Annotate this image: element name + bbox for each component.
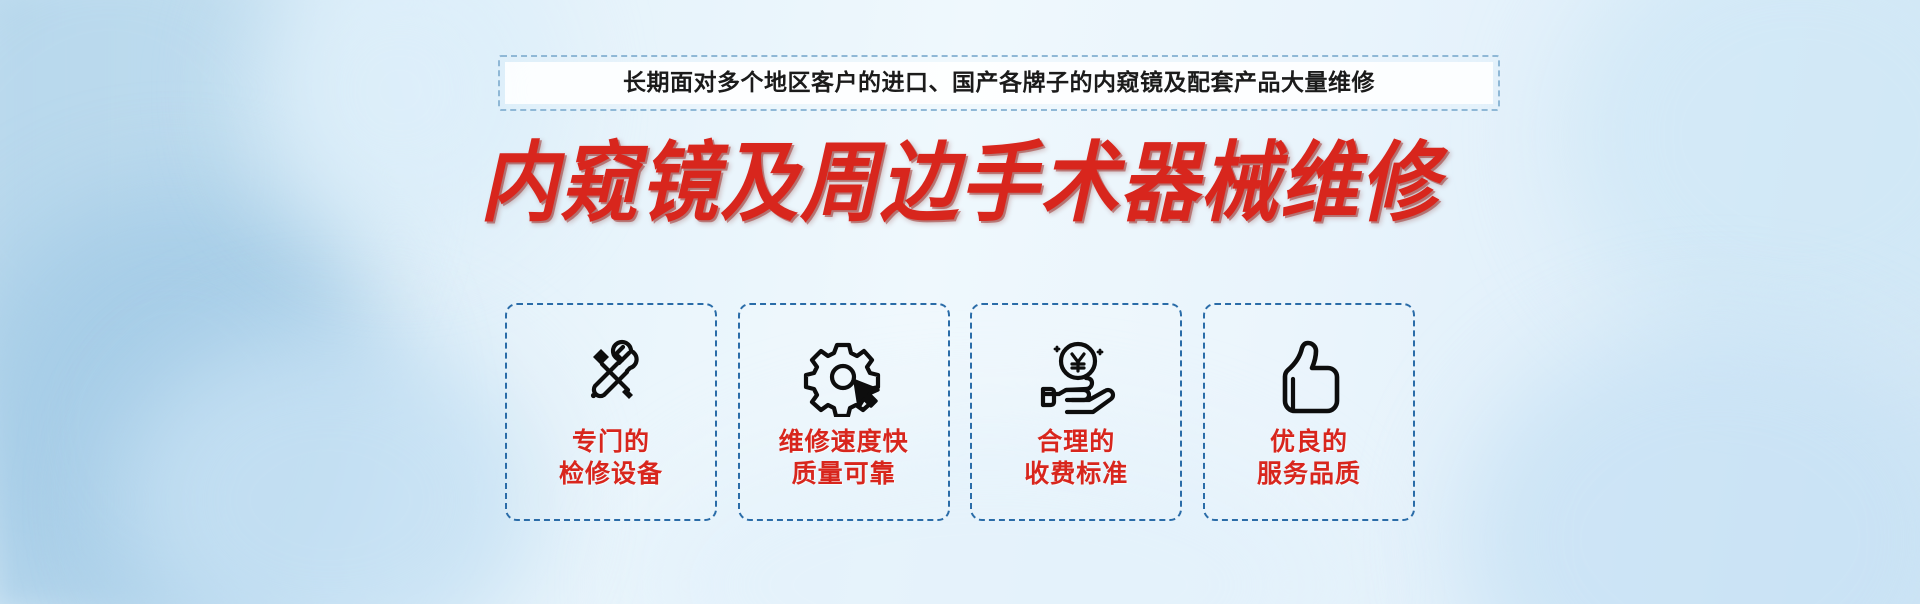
feature-card-label: 合理的 收费标准 [1024,426,1128,490]
feature-card-label: 维修速度快 质量可靠 [779,426,909,490]
feature-card-list: 专门的 检修设备 维修速度快 质量可靠 [505,303,1415,521]
feature-card[interactable]: 维修速度快 质量可靠 [738,303,950,521]
feature-card-label-line2: 收费标准 [1024,458,1128,490]
gear-cursor-click-icon [803,334,885,420]
feature-card-label-line2: 质量可靠 [779,458,909,490]
subtitle-banner-inner: 长期面对多个地区客户的进口、国产各牌子的内窥镜及配套产品大量维修 [505,62,1493,104]
page-title: 内窥镜及周边手术器械维修 [480,140,1440,227]
thumbs-up-icon [1271,334,1347,420]
tools-wrench-screwdriver-icon [571,334,651,420]
feature-card-label-line1: 维修速度快 [779,428,909,456]
feature-card[interactable]: 专门的 检修设备 [505,303,717,521]
headline-container: 内窥镜及周边手术器械维修 [0,140,1920,218]
feature-card-label-line1: 优良的 [1270,428,1348,456]
feature-card-label-line1: 专门的 [572,428,650,456]
hand-holding-yuan-coin-icon [1033,334,1119,420]
feature-card-label-line1: 合理的 [1037,428,1115,456]
feature-card-label-line2: 检修设备 [559,458,663,490]
subtitle-text: 长期面对多个地区客户的进口、国产各牌子的内窥镜及配套产品大量维修 [515,69,1483,95]
feature-card-label: 专门的 检修设备 [559,426,663,490]
feature-card-label: 优良的 服务品质 [1257,426,1361,490]
promo-banner: 长期面对多个地区客户的进口、国产各牌子的内窥镜及配套产品大量维修 内窥镜及周边手… [0,0,1920,604]
feature-card-label-line2: 服务品质 [1257,458,1361,490]
feature-card[interactable]: 优良的 服务品质 [1203,303,1415,521]
feature-card[interactable]: 合理的 收费标准 [970,303,1182,521]
subtitle-banner: 长期面对多个地区客户的进口、国产各牌子的内窥镜及配套产品大量维修 [498,55,1500,111]
